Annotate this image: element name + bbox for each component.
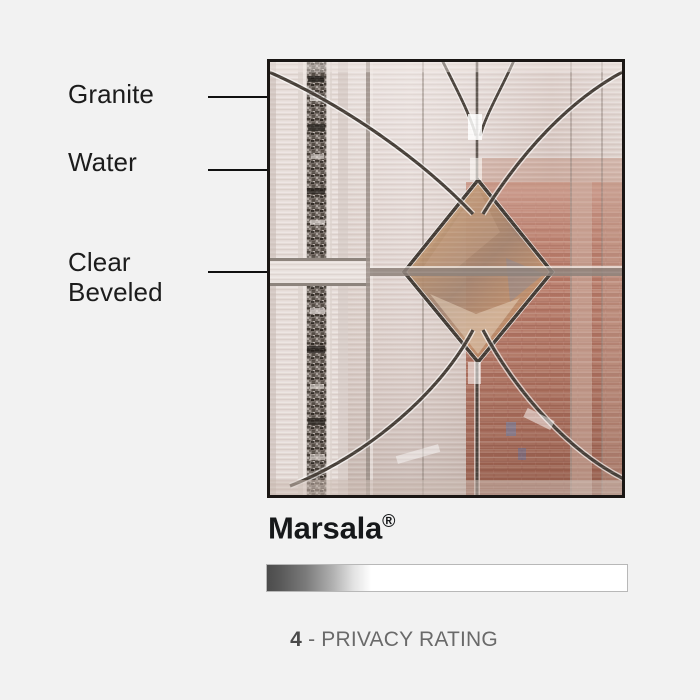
- product-name: Marsala: [268, 510, 382, 545]
- glass-overlay-sheen: [270, 62, 622, 495]
- glass-artwork: [270, 62, 622, 495]
- privacy-rating-label: PRIVACY RATING: [321, 628, 498, 651]
- privacy-rating-separator: -: [302, 628, 321, 651]
- page-title: Marsala®: [268, 512, 395, 543]
- glass-product-figure: Granite Water Clear Beveled: [0, 0, 700, 700]
- glass-panel-image: [267, 59, 625, 498]
- privacy-rating-caption: 4 - PRIVACY RATING: [266, 604, 498, 676]
- callout-label-granite: Granite: [68, 80, 154, 110]
- privacy-rating-value: 4: [290, 628, 302, 651]
- privacy-rating-bar: [266, 564, 628, 592]
- callout-label-water: Water: [68, 148, 137, 178]
- callout-label-clear-beveled: Clear Beveled: [68, 248, 163, 307]
- registered-trademark-icon: ®: [382, 511, 395, 531]
